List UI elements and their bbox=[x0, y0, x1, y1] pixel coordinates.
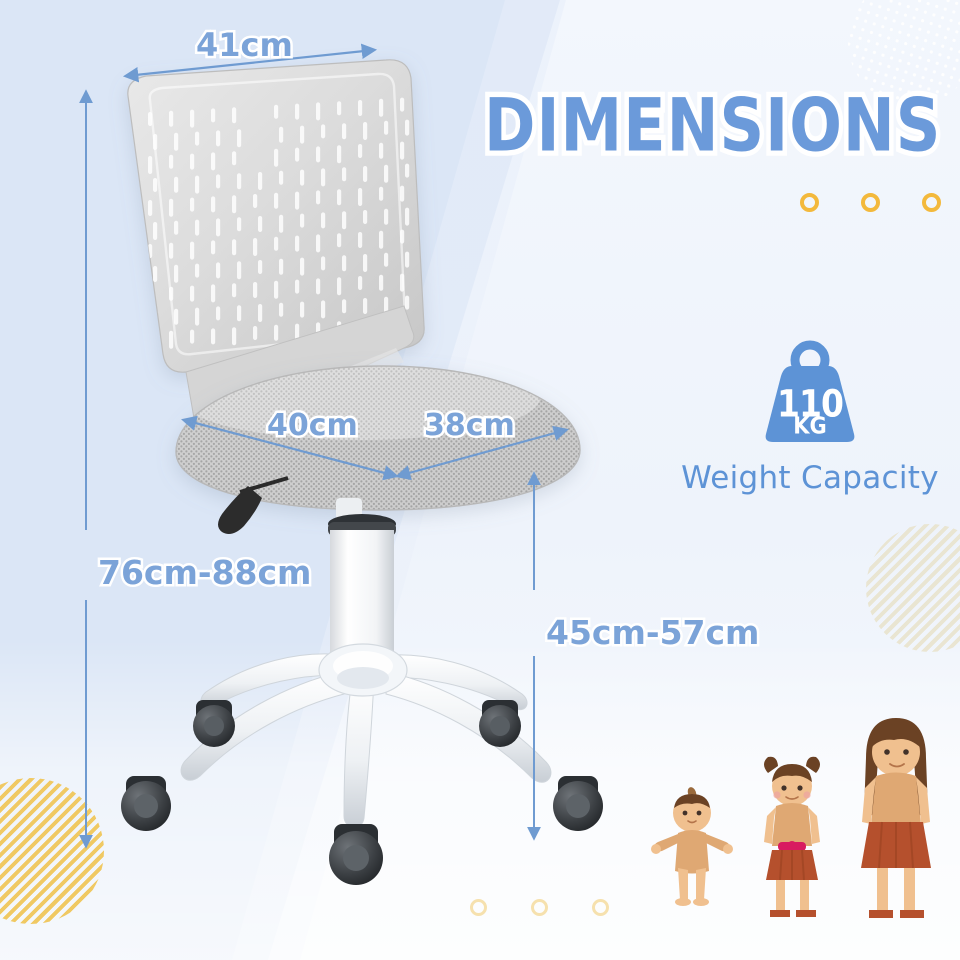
infographic-canvas: DIMENSIONS 41cm 76cm-88cm 45cm-57cm 40cm… bbox=[0, 0, 960, 960]
figure-young-girl bbox=[764, 757, 820, 917]
ring-dot bbox=[861, 193, 880, 212]
weight-capacity-block: 110 KG Weight Capacity bbox=[660, 340, 960, 496]
label-seat-height: 45cm-57cm bbox=[546, 613, 759, 652]
label-seat-width: 38cm bbox=[424, 408, 515, 443]
weight-icon: 110 KG bbox=[762, 340, 858, 448]
figure-toddler bbox=[651, 786, 733, 906]
figure-older-girl bbox=[861, 718, 931, 918]
page-title: DIMENSIONS bbox=[484, 82, 941, 168]
ring-dots-top bbox=[800, 193, 941, 212]
gas-lift-cylinder bbox=[328, 498, 396, 669]
label-seat-depth: 40cm bbox=[267, 408, 358, 443]
people-scale-figures bbox=[650, 700, 950, 930]
ring-dot bbox=[922, 193, 941, 212]
label-back-width: 41cm bbox=[196, 26, 293, 64]
weight-unit: KG bbox=[762, 413, 858, 439]
weight-capacity-label: Weight Capacity bbox=[660, 460, 960, 496]
label-total-height: 76cm-88cm bbox=[98, 553, 311, 592]
ring-dot bbox=[800, 193, 819, 212]
